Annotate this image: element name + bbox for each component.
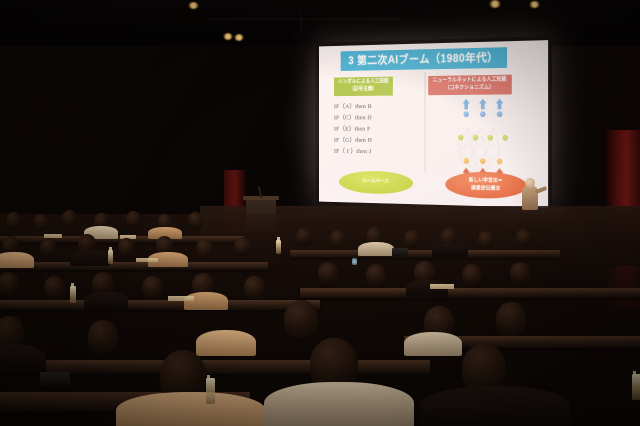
audience-head [34, 214, 48, 230]
rule-item: IF（C）then D [334, 112, 423, 124]
desk-row [0, 262, 268, 270]
ceiling-spotlight [489, 0, 501, 8]
water-bottle [70, 286, 76, 303]
audience-head [6, 212, 21, 229]
audience-head [188, 212, 203, 229]
audience-head [0, 272, 19, 295]
paper-handout [136, 258, 158, 262]
rule-item: IF（A）then B [334, 101, 423, 113]
ceiling-truss-2 [300, 10, 302, 32]
up-arrow-icon [462, 98, 470, 109]
audience-shoulders [116, 392, 266, 426]
audience-head [510, 262, 530, 284]
symbolic-ai-header: シンボルによる人工知能 （記号主義） [334, 77, 393, 96]
ceiling-spotlight [188, 2, 199, 9]
lecture-hall-photo: 3 第二次AIブーム（1980年代） シンボルによる人工知能 （記号主義） IF… [0, 0, 640, 426]
presentation-slide: 3 第二次AIブーム（1980年代） シンボルによる人工知能 （記号主義） IF… [319, 40, 548, 208]
audience-head [478, 231, 494, 249]
up-arrow-icon [479, 98, 487, 109]
hidden-node [503, 134, 509, 140]
audience-head [196, 239, 213, 258]
audience-head [244, 276, 265, 299]
hidden-node [458, 134, 463, 140]
speaker-head [525, 178, 535, 188]
audience-head [44, 276, 65, 299]
audience-shoulders [184, 292, 228, 310]
ceiling-spotlight [529, 1, 540, 8]
audience-shoulders [404, 332, 462, 356]
input-node [497, 158, 503, 164]
rule-list: IF（A）then B IF（C）then D IF（E）then F IF（G… [334, 101, 423, 159]
paper-handout [430, 284, 454, 289]
paper-handout [168, 296, 194, 301]
audience-head [142, 276, 163, 299]
audience-head [296, 228, 312, 246]
audience-shoulders [0, 252, 34, 268]
ceiling-spotlight [234, 34, 244, 41]
audience-head [318, 262, 338, 284]
desk-row [300, 288, 640, 298]
desk-row [0, 300, 320, 310]
output-node [480, 111, 486, 117]
audience-shoulders [432, 243, 468, 257]
audience-head [462, 264, 482, 286]
input-node [464, 158, 469, 164]
water-bottle [276, 240, 281, 254]
ceiling-truss [210, 18, 400, 20]
input-node [480, 158, 486, 164]
water-bottle [206, 378, 215, 404]
hidden-node [488, 134, 494, 140]
neural-net-header: ニューラルネットによる人工知能 （コネクショニズム） [428, 75, 511, 95]
audience-head [516, 229, 532, 247]
audience-head [404, 230, 420, 248]
audience-shoulders [358, 242, 394, 256]
up-arrow-icon [496, 98, 504, 109]
audience-head [118, 238, 135, 257]
slide-title: 3 第二次AIブーム（1980年代） [341, 47, 507, 71]
audience-head [366, 264, 386, 286]
water-bottle [108, 250, 113, 264]
output-layer [428, 111, 540, 117]
audience-head [62, 210, 77, 227]
audience-shoulders [84, 292, 128, 310]
audience-head [40, 238, 57, 257]
output-arrows [428, 98, 540, 110]
audience-shoulders [0, 344, 46, 374]
audience-head [126, 211, 141, 228]
audience-head [496, 302, 526, 336]
audience-head [284, 300, 318, 338]
audience-head [88, 320, 118, 354]
phone-screen [352, 258, 357, 265]
screen-surface: 3 第二次AIブーム（1980年代） シンボルによる人工知能 （記号主義） IF… [319, 40, 548, 208]
output-node [497, 111, 503, 117]
rule-item: IF（G）then H [334, 135, 423, 147]
audience-head [330, 230, 346, 248]
rule-item: IF（E）then F [334, 124, 423, 136]
projection-screen: 3 第二次AIブーム（1980年代） シンボルによる人工知能 （記号主義） IF… [316, 36, 552, 212]
ceiling-spotlight [223, 33, 233, 40]
laptop [40, 372, 70, 386]
audience-shoulders [264, 382, 414, 426]
audience-shoulders [70, 250, 110, 266]
rule-item: IF（ I ）then J [334, 147, 423, 159]
hidden-layer [428, 134, 540, 140]
water-bottle [632, 374, 640, 400]
output-node [464, 111, 469, 117]
audience-head [234, 237, 251, 256]
laptop [392, 248, 408, 257]
audience-shoulders [420, 386, 570, 426]
desk-row [290, 250, 560, 258]
hidden-node [473, 134, 479, 140]
audience-shoulders [196, 330, 256, 356]
